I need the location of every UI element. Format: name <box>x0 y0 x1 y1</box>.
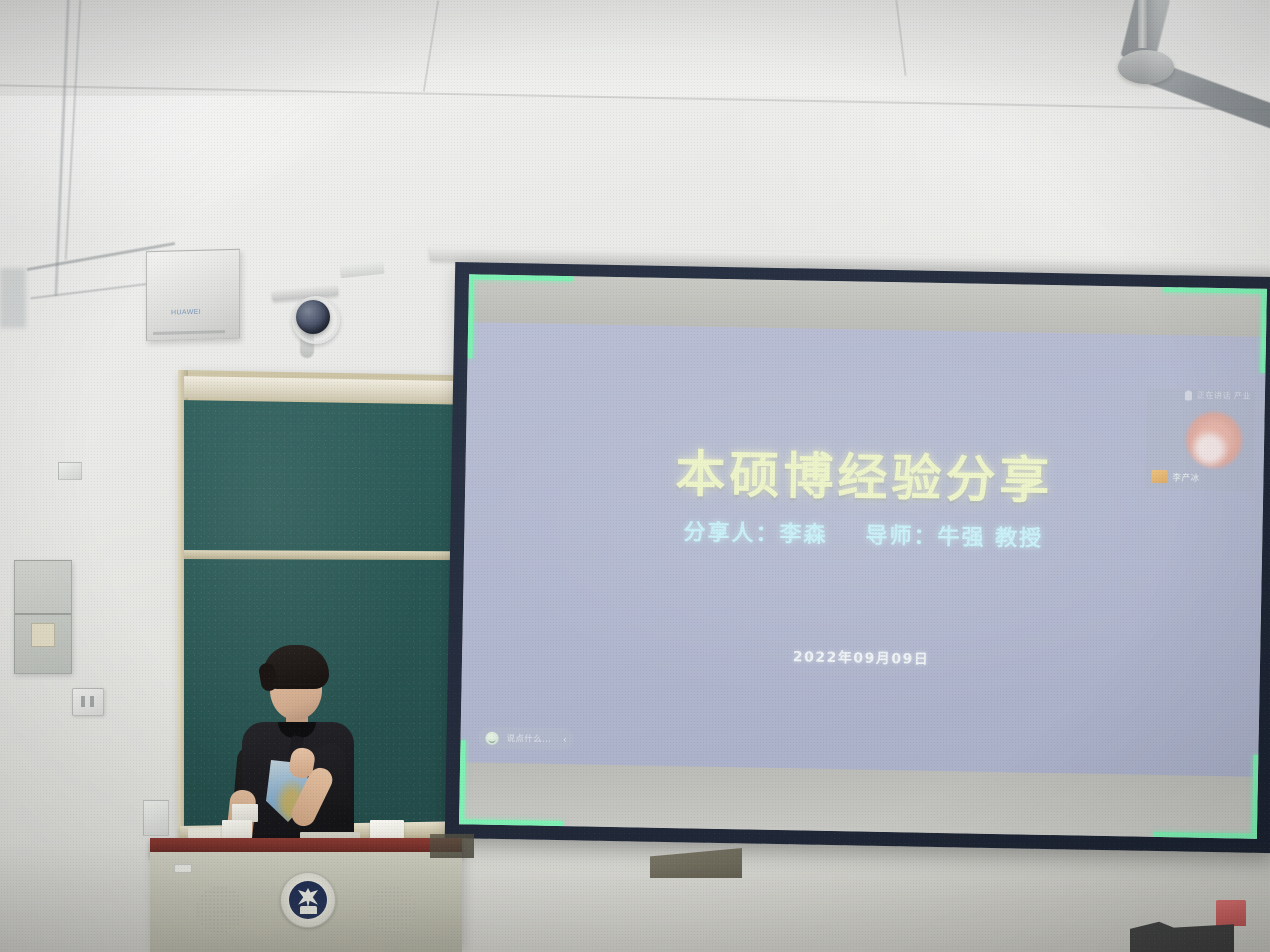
meeting-participant-panel[interactable]: 正在讲话 产业 李产冰 <box>1145 389 1255 491</box>
chevron-left-icon[interactable]: ‹ <box>563 734 566 744</box>
meeting-speaking-indicator: 正在讲话 产业 <box>1185 389 1251 401</box>
chat-input-placeholder[interactable]: 说点什么... <box>506 732 551 745</box>
meeting-tile-participant-name: 李产冰 <box>1172 471 1200 483</box>
classroom-photo: HUAWEI 本硕博经验分享 分享人：李森导师：牛强 教授 <box>0 0 1270 952</box>
university-seal-inner <box>289 881 327 919</box>
fan-motion-blur <box>1150 0 1270 118</box>
desk-paper <box>222 820 252 840</box>
podium-speaker-grille <box>196 886 244 934</box>
podium <box>150 852 462 952</box>
presenter-hair <box>263 645 329 689</box>
equipment-box-vent <box>153 330 225 335</box>
slide-title: 本硕博经验分享 <box>465 430 1264 517</box>
chalkboard-top-rail <box>184 376 455 402</box>
wall-socket-low <box>143 800 169 836</box>
slide-presenter-label: 分享人：李森 <box>683 520 827 548</box>
chalkboard-divider <box>184 550 455 560</box>
meeting-participant-tile[interactable]: 李产冰 <box>1151 470 1200 484</box>
wall-equipment-box: HUAWEI <box>146 249 240 341</box>
microphone-icon <box>1185 390 1192 400</box>
fan-rod <box>1138 0 1147 48</box>
panel-sticker <box>31 623 55 647</box>
projector-screen-surface: 本硕博经验分享 分享人：李森导师：牛强 教授 2022年09月09日 正在讲话 … <box>459 274 1267 839</box>
participant-thumbnail <box>1151 470 1167 483</box>
equipment-box-label: HUAWEI <box>171 309 201 317</box>
presenter-standing <box>232 640 368 855</box>
presentation-slide: 本硕博经验分享 分享人：李森导师：牛强 教授 2022年09月09日 正在讲话 … <box>460 322 1266 777</box>
dome-security-camera <box>296 300 330 334</box>
university-seal-emblem <box>280 872 336 928</box>
ceiling-fan <box>1000 0 1270 102</box>
chat-input-bar[interactable]: 说点什么... ‹ <box>478 727 573 751</box>
wall-light-switch[interactable] <box>58 462 82 480</box>
meeting-top-participant-name: 正在讲话 产业 <box>1197 390 1251 402</box>
projector-screen-frame: 本硕博经验分享 分享人：李森导师：牛强 教授 2022年09月09日 正在讲话 … <box>445 262 1270 853</box>
slide-subtitle: 分享人：李森导师：牛强 教授 <box>464 510 1262 557</box>
emoji-smile-icon[interactable] <box>485 731 498 744</box>
participant-avatar[interactable] <box>1186 411 1243 468</box>
podium-speaker-grille <box>368 886 416 934</box>
presenter-glasses <box>272 684 320 694</box>
wall-fixture <box>0 268 26 328</box>
slide-date: 2022年09月09日 <box>462 640 1260 675</box>
podium-label-tag <box>174 864 192 873</box>
floor-object <box>430 834 474 858</box>
subtitle-spacer <box>827 542 865 543</box>
wall-power-outlet <box>72 688 104 716</box>
slide-advisor-label: 导师：牛强 教授 <box>865 524 1043 552</box>
red-object <box>1216 900 1246 926</box>
wall-electrical-panel <box>14 560 72 674</box>
